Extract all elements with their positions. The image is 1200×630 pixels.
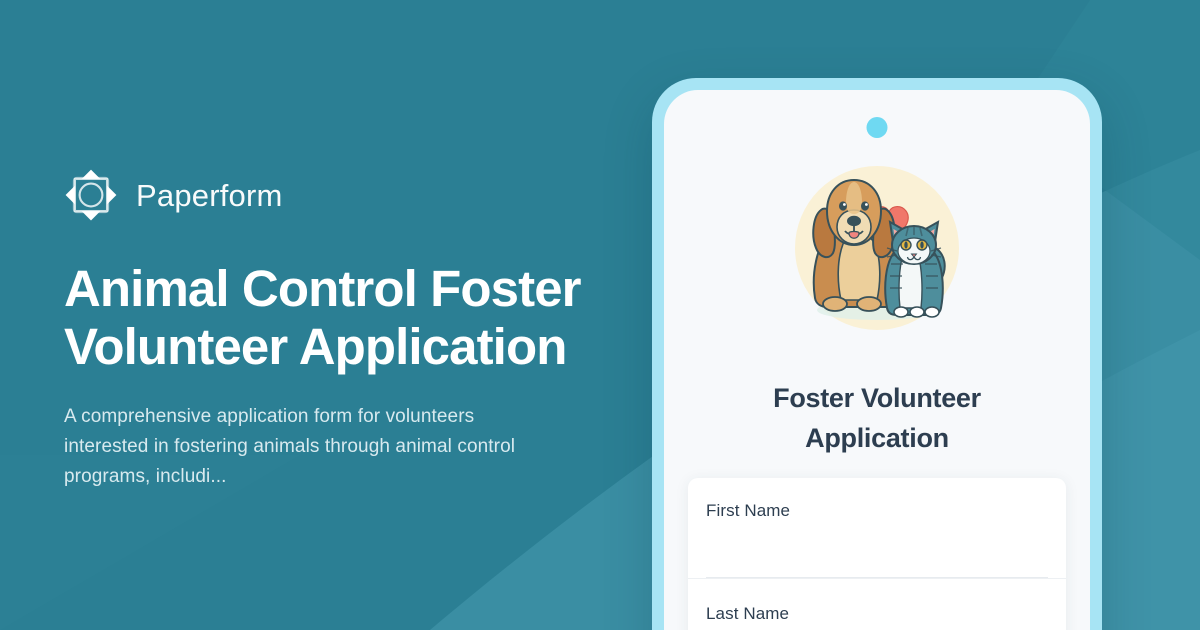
paperform-logo-icon: [64, 168, 118, 222]
dog-cat-heart-illustration: [777, 148, 977, 348]
first-name-input[interactable]: [706, 526, 1048, 578]
phone-screen: Foster Volunteer Application First Name …: [664, 90, 1090, 630]
hero-description: A comprehensive application form for vol…: [64, 402, 564, 492]
teal-tabby-cat: [885, 222, 945, 317]
form-title: Foster Volunteer Application: [664, 378, 1090, 458]
form-field-first-name: First Name: [688, 478, 1066, 579]
brand-lockup: Paperform: [64, 168, 624, 222]
form-card: First Name Last Name: [688, 478, 1066, 630]
brand-name: Paperform: [136, 180, 283, 211]
form-field-last-name: Last Name: [688, 579, 1066, 630]
hero-content: Paperform Animal Control Foster Voluntee…: [64, 168, 624, 492]
field-label: First Name: [706, 500, 1048, 522]
phone-mockup: Foster Volunteer Application First Name …: [652, 78, 1102, 630]
page-title: Animal Control Foster Volunteer Applicat…: [64, 260, 604, 376]
promo-banner: Paperform Animal Control Foster Voluntee…: [0, 0, 1200, 630]
field-label: Last Name: [706, 603, 1048, 625]
camera-dot-icon: [867, 117, 888, 138]
